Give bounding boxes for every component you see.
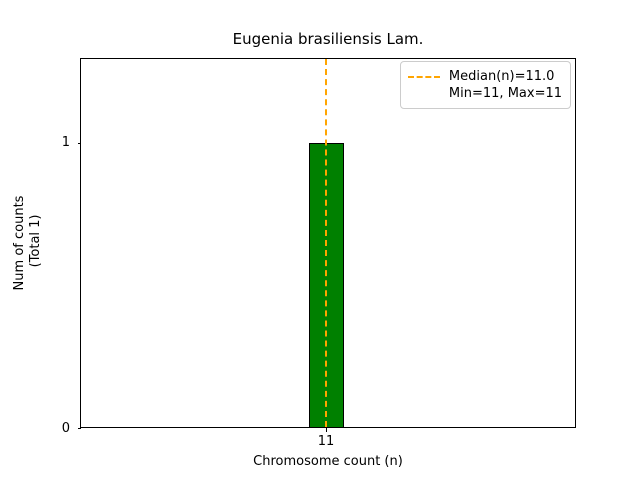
y-tick-mark-1: [78, 143, 82, 144]
matplotlib-figure: Eugenia brasiliensis Lam. Num of counts …: [0, 0, 640, 480]
legend-label-minmax: Min=11, Max=11: [449, 85, 562, 102]
y-axis-label-container: Num of counts (Total 1): [0, 58, 56, 428]
plot-surface: [81, 59, 575, 427]
y-tick-label-1: 1: [46, 136, 70, 149]
x-axis-label: Chromosome count (n): [80, 454, 576, 469]
median-line: [325, 59, 327, 427]
legend-box[interactable]: Median(n)=11.0 Min=11, Max=11: [400, 61, 571, 109]
legend-label-median: Median(n)=11.0: [449, 68, 555, 85]
y-tick-label-0: 0: [46, 422, 70, 435]
x-tick-label-11: 11: [318, 435, 335, 448]
y-tick-mark-0: [78, 428, 82, 429]
y-axis-label: Num of counts (Total 1): [12, 196, 44, 291]
legend-entry-median[interactable]: Median(n)=11.0: [408, 68, 562, 85]
dashed-line-icon: [408, 68, 440, 85]
legend-entry-minmax[interactable]: Min=11, Max=11: [408, 85, 562, 102]
y-axis-label-line2: (Total 1): [28, 214, 43, 271]
y-axis-label-line1: Num of counts: [12, 196, 27, 291]
x-tick-mark-11: [326, 428, 327, 432]
chart-title: Eugenia brasiliensis Lam.: [80, 30, 576, 48]
plot-axes: 11 Median(n)=11.0 Min=11, Max=11: [80, 58, 576, 428]
